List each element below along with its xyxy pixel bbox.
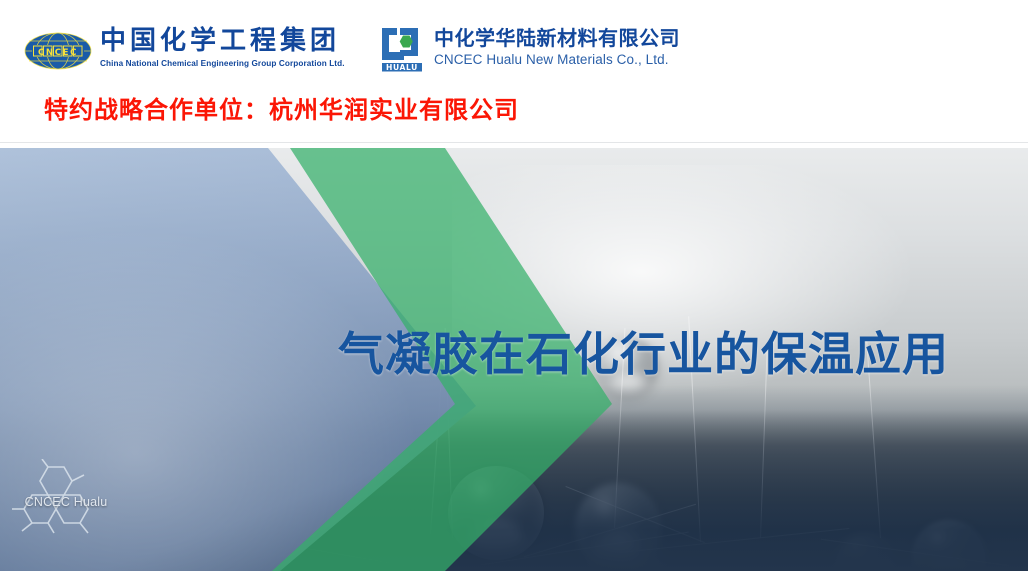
slide-title: 气凝胶在石化行业的保温应用: [338, 326, 949, 382]
presentation-slide: CNCEC 中国化学工程集团 China National Chemical E…: [0, 0, 1028, 578]
hualu-logo: HUALU 中化学华陆新材料有限公司 CNCEC Hualu New Mater…: [380, 24, 680, 74]
cncec-logo: CNCEC 中国化学工程集团 China National Chemical E…: [24, 26, 345, 70]
hualu-logo-text: 中化学华陆新材料有限公司 CNCEC Hualu New Materials C…: [434, 26, 680, 68]
hero-banner: 气凝胶在石化行业的保温应用 CNCEC Hualu: [0, 148, 1028, 571]
slide-bottom-strip: [0, 571, 1028, 578]
partner-banner-text: 特约战略合作单位：杭州华润实业有限公司: [44, 96, 519, 124]
hualu-chinese-name: 中化学华陆新材料有限公司: [434, 26, 680, 50]
cncec-logo-text: 中国化学工程集团 China National Chemical Enginee…: [100, 26, 345, 70]
watermark-label: CNCEC Hualu: [6, 495, 126, 509]
cncec-chinese-name: 中国化学工程集团: [100, 26, 345, 56]
svg-text:CNCEC: CNCEC: [38, 48, 78, 58]
logo-row: CNCEC 中国化学工程集团 China National Chemical E…: [0, 22, 1028, 82]
cncec-globe-emblem: CNCEC: [24, 32, 92, 70]
hualu-bracket-hexagon-emblem: HUALU: [380, 26, 426, 74]
hualu-english-name: CNCEC Hualu New Materials Co., Ltd.: [434, 51, 680, 68]
slide-header: CNCEC 中国化学工程集团 China National Chemical E…: [0, 0, 1028, 143]
cncec-english-name: China National Chemical Engineering Grou…: [100, 58, 345, 70]
cncec-hualu-watermark: CNCEC Hualu: [6, 459, 126, 545]
svg-text:HUALU: HUALU: [386, 63, 418, 72]
